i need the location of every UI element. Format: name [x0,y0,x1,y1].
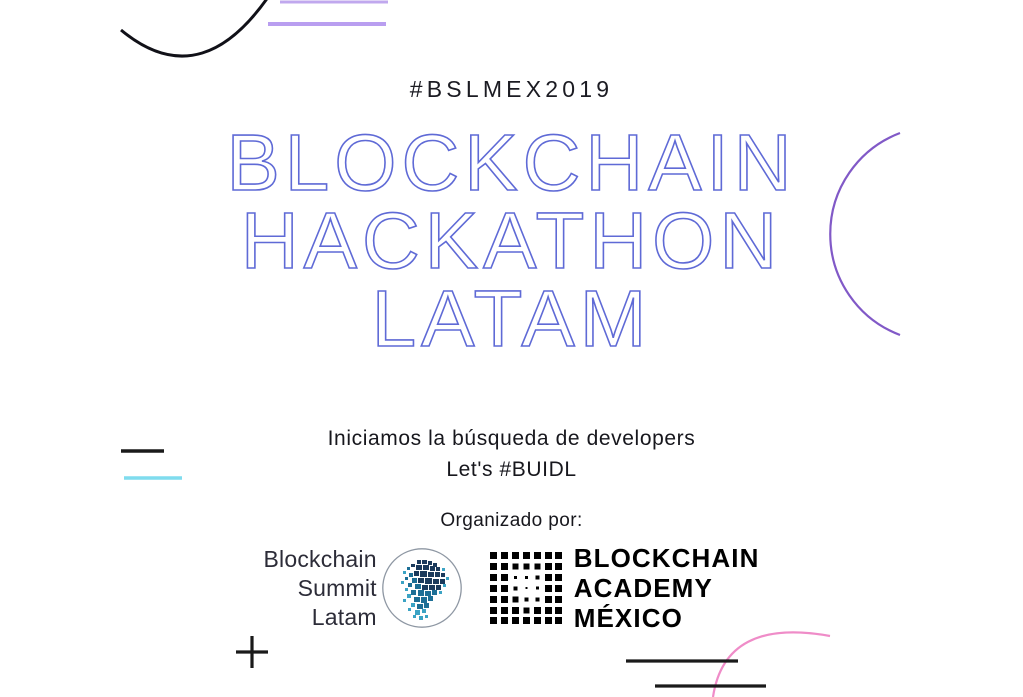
title-line-3: LATAM [0,280,1023,358]
subtitle-block: Iniciamos la búsqueda de developers Let'… [0,423,1023,485]
bsl-word-line-3: Latam [264,603,377,632]
logo-blockchain-academy-mexico: BLOCKCHAIN ACADEMY MÉXICO [489,543,760,633]
dot-matrix-grid-icon [489,551,563,625]
page-title: BLOCKCHAIN HACKATHON LATAM [0,124,1023,358]
logo-blockchain-summit-latam: Blockchain Summit Latam [264,545,463,632]
title-line-2: HACKATHON [0,202,1023,280]
bam-word-line-1: BLOCKCHAIN [574,543,760,573]
event-hashtag: #BSLMEX2019 [0,76,1023,103]
organizer-logo-row: Blockchain Summit Latam [0,538,1023,638]
title-line-1: BLOCKCHAIN [0,124,1023,202]
black-arc-decoration [121,0,278,56]
bsl-word-line-1: Blockchain [264,545,377,574]
bam-word-line-3: MÉXICO [574,603,760,633]
subtitle-line-1: Iniciamos la búsqueda de developers [0,423,1023,454]
poster-canvas: #BSLMEX2019 BLOCKCHAIN HACKATHON LATAM I… [0,0,1023,697]
bsl-wordmark: Blockchain Summit Latam [264,545,377,632]
americas-map-circle-icon [381,547,463,629]
bam-wordmark: BLOCKCHAIN ACADEMY MÉXICO [574,543,760,633]
organized-by-label: Organizado por: [0,510,1023,532]
bam-word-line-2: ACADEMY [574,573,760,603]
pink-arc-decoration [713,632,830,697]
bsl-word-line-2: Summit [264,574,377,603]
subtitle-line-2: Let's #BUIDL [0,454,1023,485]
plus-mark-decoration [236,636,268,668]
